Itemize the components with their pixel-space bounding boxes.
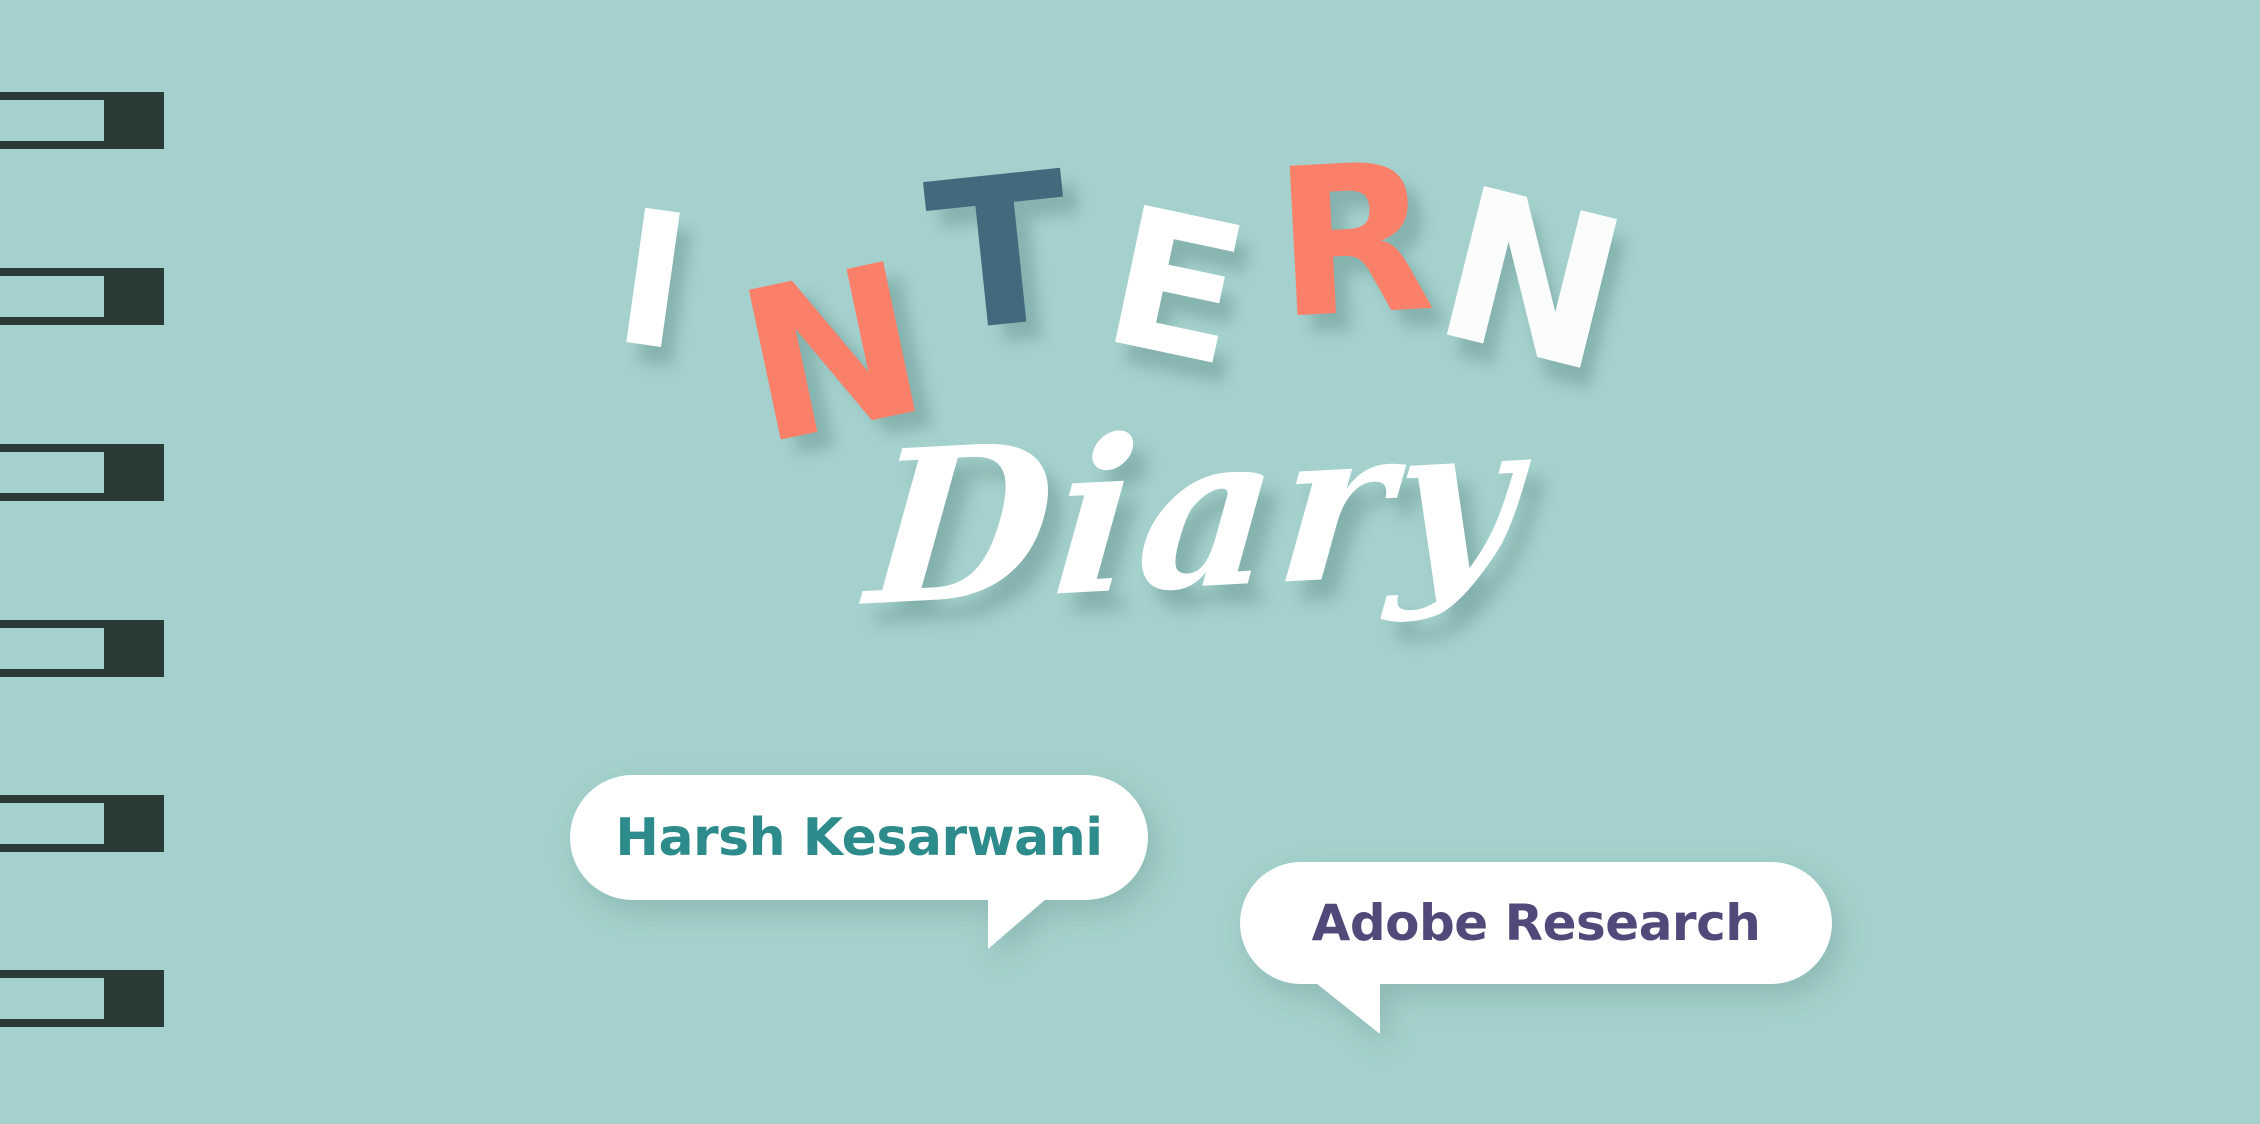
binding-ring-hole [0, 803, 104, 844]
presenter-name-label: Harsh Kesarwani [615, 808, 1102, 868]
binding-ring-hole [0, 452, 104, 493]
binding-ring [0, 970, 164, 1027]
wordmark-letter-e: E [1091, 181, 1257, 396]
wordmark-letter-r: R [1270, 136, 1436, 349]
subtitle-diary: Diary [861, 390, 1529, 635]
title-slide: I N T E R N Diary Harsh Kesarwani Adobe … [0, 0, 2260, 1124]
binding-ring-hole [0, 628, 104, 669]
spiral-binding [0, 0, 170, 1124]
speech-bubble-organization-tail [1302, 972, 1380, 1034]
binding-ring [0, 92, 164, 149]
wordmark-letter-t: T [920, 145, 1079, 363]
binding-ring [0, 444, 164, 501]
speech-bubble-name-tail [988, 887, 1060, 949]
speech-bubble-name: Harsh Kesarwani [570, 775, 1148, 900]
binding-ring-hole [0, 276, 104, 317]
organization-label: Adobe Research [1312, 894, 1761, 952]
binding-ring [0, 268, 164, 325]
wordmark-letter-n2: N [1420, 158, 1639, 404]
binding-ring-hole [0, 978, 104, 1019]
binding-ring [0, 620, 164, 677]
binding-ring-hole [0, 100, 104, 141]
wordmark-letter-i: I [605, 184, 697, 378]
binding-ring [0, 795, 164, 852]
speech-bubble-organization: Adobe Research [1240, 862, 1832, 984]
